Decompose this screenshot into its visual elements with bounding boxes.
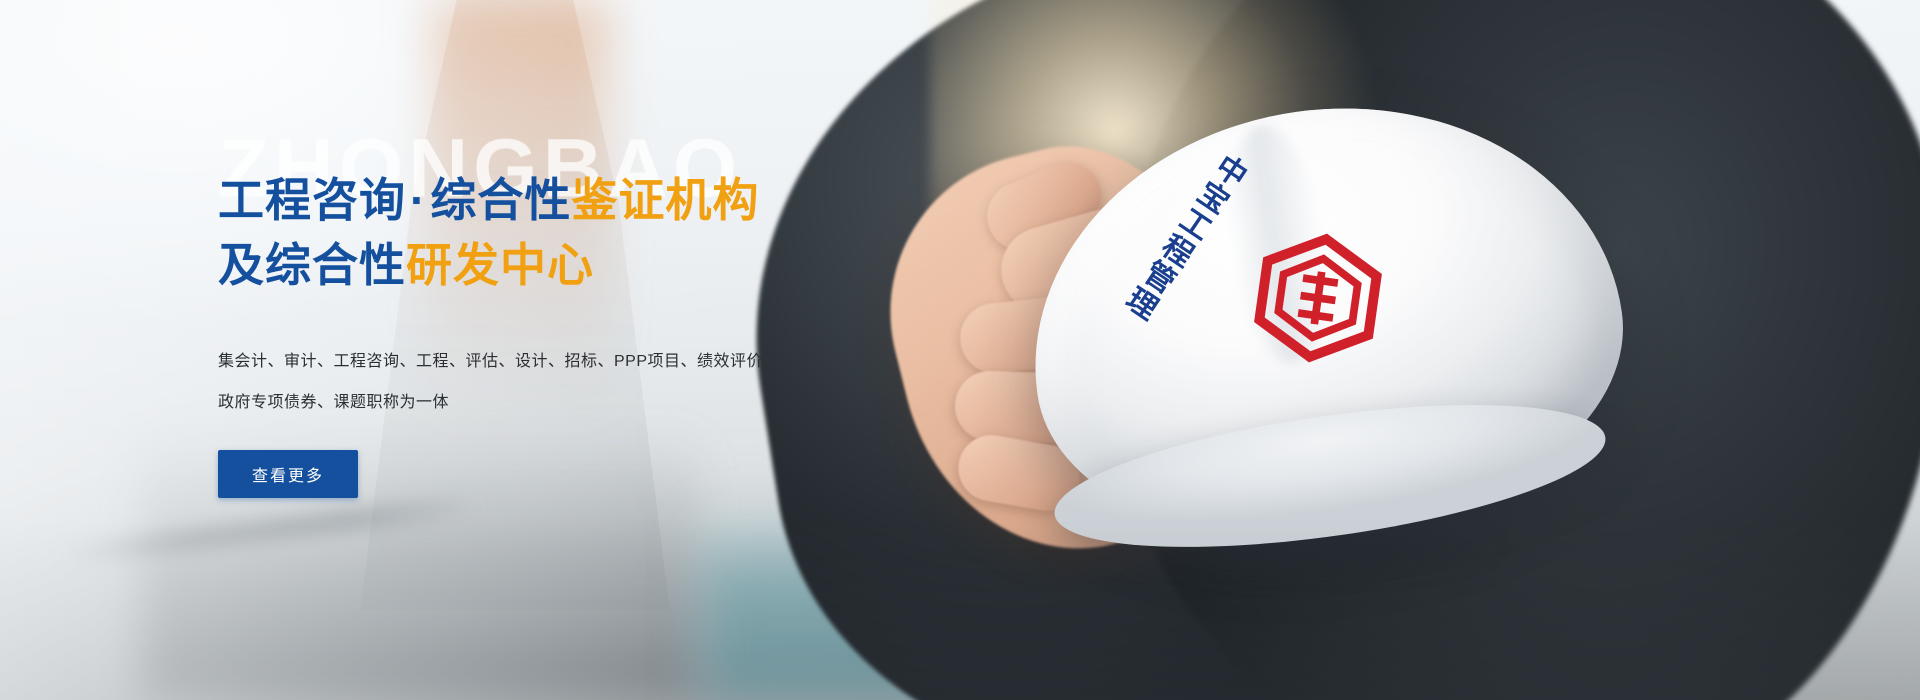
headline-line-2: 及综合性研发中心 <box>218 233 918 298</box>
view-more-button[interactable]: 查看更多 <box>218 450 358 498</box>
banner-description: 集会计、审计、工程咨询、工程、评估、设计、招标、PPP项目、绩效评价、 政府专项… <box>218 341 818 424</box>
hero-banner: 中宝工程管理 ZHONGBAO 工程咨询·综合性鉴证机构 及综合性研发中心 集会… <box>0 0 1920 700</box>
headline-line1-accent: 鉴证机构 <box>571 174 759 226</box>
company-logo-mark <box>1243 223 1392 372</box>
headline-line-1: 工程咨询·综合性鉴证机构 <box>218 168 918 233</box>
headline-line2-part1: 及综合性 <box>218 239 406 291</box>
headline-line2-accent: 研发中心 <box>406 239 594 291</box>
banner-headline: 工程咨询·综合性鉴证机构 及综合性研发中心 <box>218 168 918 299</box>
description-line-2: 政府专项债券、课题职称为一体 <box>218 382 818 424</box>
description-line-1: 集会计、审计、工程咨询、工程、评估、设计、招标、PPP项目、绩效评价、 <box>218 341 818 383</box>
banner-content: ZHONGBAO 工程咨询·综合性鉴证机构 及综合性研发中心 集会计、审计、工程… <box>218 120 918 498</box>
hexagon-logo-icon <box>1243 223 1392 372</box>
headline-line1-part1: 工程咨询 <box>218 174 406 226</box>
headline-line1-part2: 综合性 <box>430 174 571 226</box>
headline-separator-dot: · <box>406 174 430 226</box>
